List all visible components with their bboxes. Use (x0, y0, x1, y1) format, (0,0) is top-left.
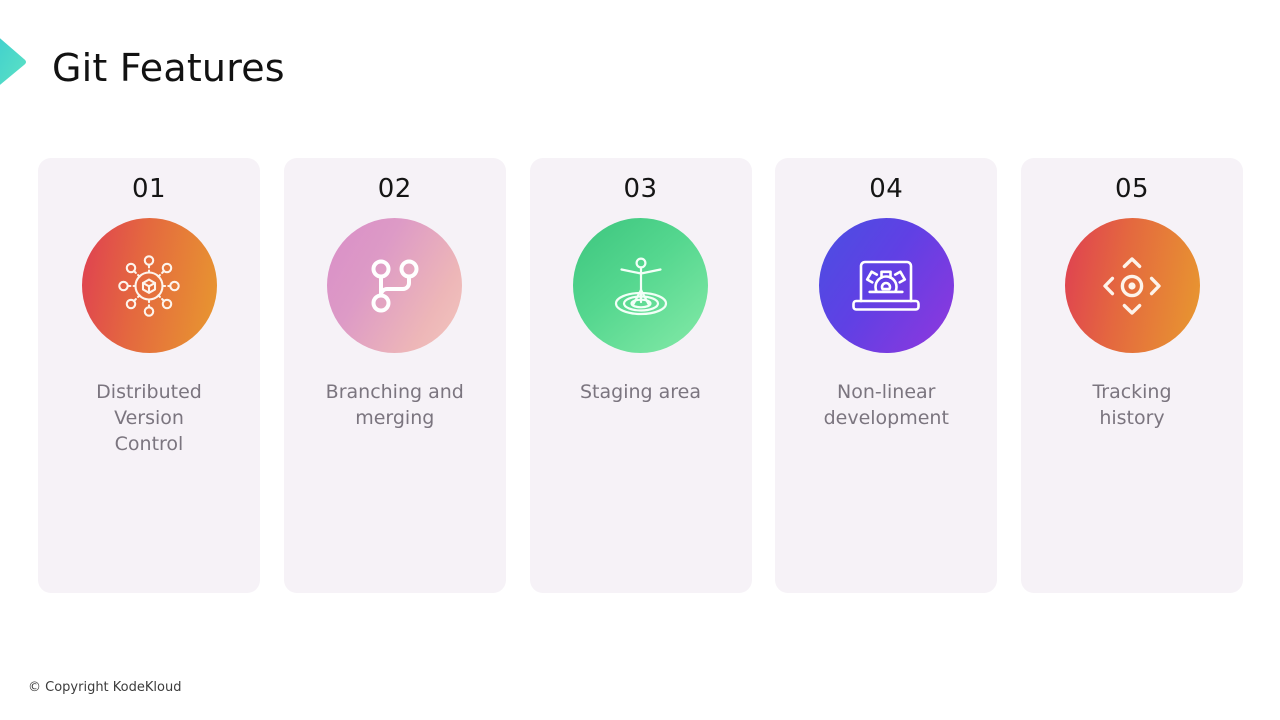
feature-card-row: 01 (38, 158, 1243, 593)
laptop-gear-icon (850, 257, 922, 315)
feature-card-01[interactable]: 01 (38, 158, 260, 593)
feature-card-05[interactable]: 05 Tracking history (1021, 158, 1243, 593)
card-number: 01 (132, 172, 166, 206)
git-branch-icon (364, 255, 426, 317)
slide-canvas: Git Features 01 (0, 0, 1280, 720)
card-label: Tracking history (1034, 379, 1230, 431)
icon-badge (573, 218, 708, 353)
footer-copyright: © Copyright KodeKloud (28, 679, 181, 697)
move-target-icon (1098, 252, 1166, 320)
card-label: Staging area (543, 379, 739, 405)
person-on-stage-icon (605, 252, 677, 320)
card-label: Non-linear development (788, 379, 984, 431)
chevron-right-icon (0, 12, 50, 110)
distributed-network-icon (113, 250, 185, 322)
card-number: 02 (378, 172, 412, 206)
card-number: 05 (1115, 172, 1149, 206)
page-title: Git Features (52, 44, 285, 92)
card-label: Distributed Version Control (51, 379, 247, 457)
card-label: Branching and merging (297, 379, 493, 431)
feature-card-04[interactable]: 04 Non-linear development (775, 158, 997, 593)
icon-badge (82, 218, 217, 353)
icon-badge (819, 218, 954, 353)
feature-card-03[interactable]: 03 Staging area (530, 158, 752, 593)
card-number: 04 (869, 172, 903, 206)
feature-card-02[interactable]: 02 Branching and merging (284, 158, 506, 593)
icon-badge (1065, 218, 1200, 353)
card-number: 03 (624, 172, 658, 206)
icon-badge (327, 218, 462, 353)
